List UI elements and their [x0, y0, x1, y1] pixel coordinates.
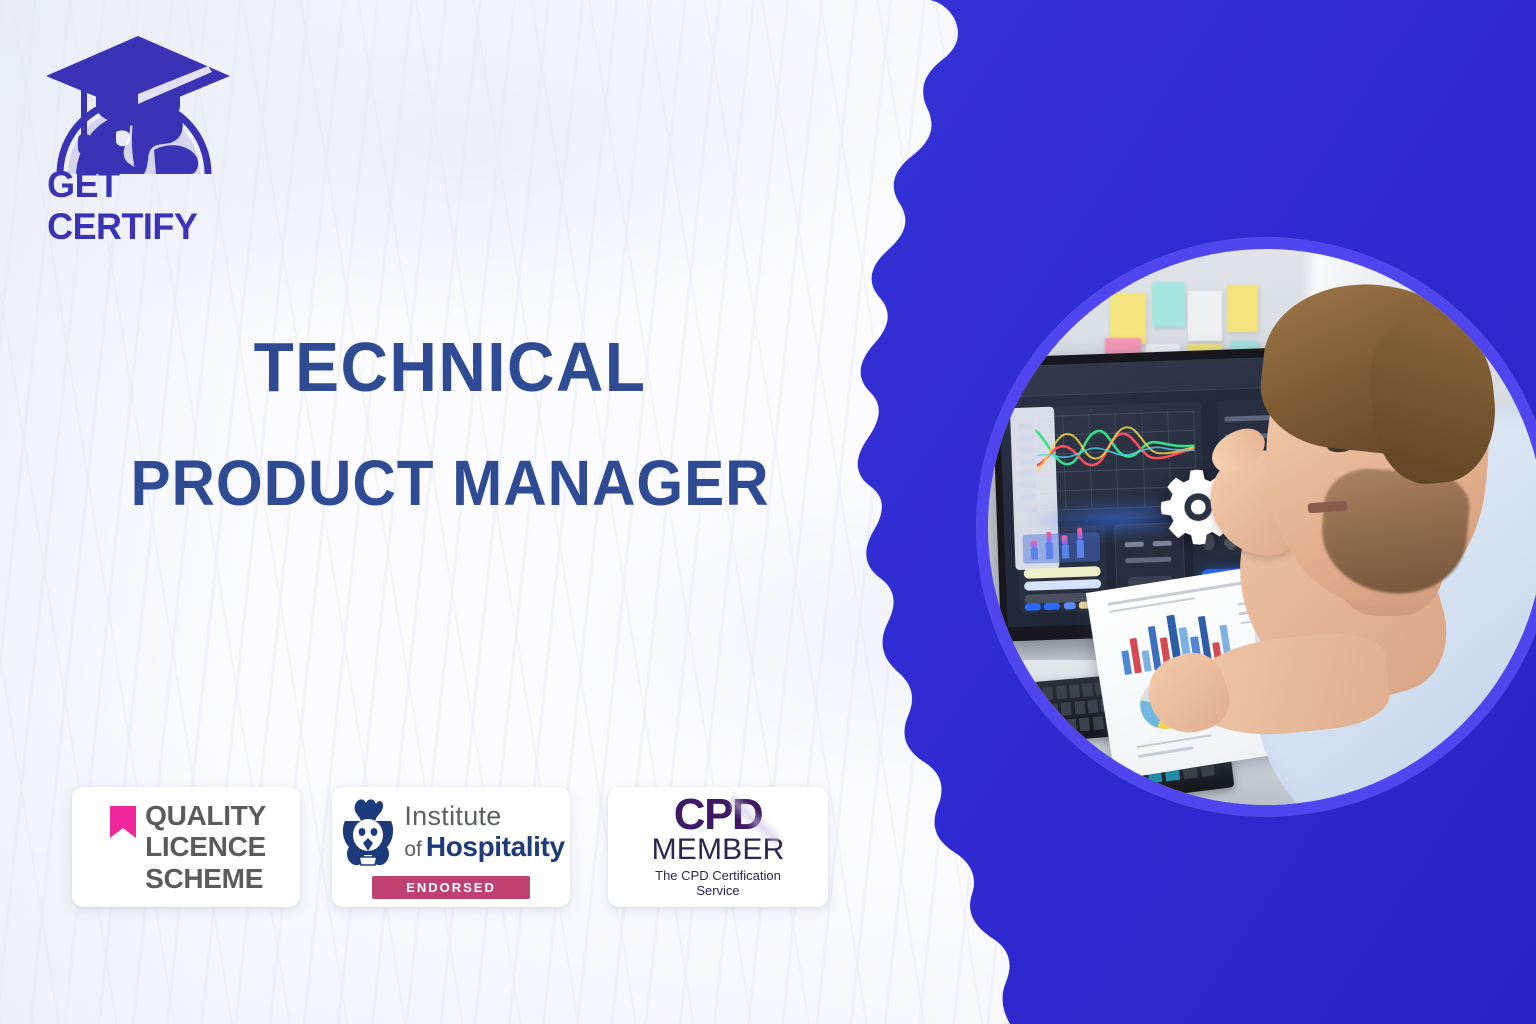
headline-line-1: TECHNICAL [27, 330, 873, 404]
ioh-institute-text: Institute [404, 803, 564, 830]
sticky-note [1188, 291, 1221, 341]
qls-line-3: SCHEME [145, 863, 266, 895]
badge-institute-of-hospitality[interactable]: Institute of Hospitality ENDORSED [332, 787, 570, 907]
ioh-endorsed-banner: ENDORSED [372, 876, 530, 899]
qls-line-1: QUALITY [145, 800, 266, 832]
course-banner: GET CERTIFY TECHNICAL PRODUCT MANAGER QU… [0, 0, 1536, 1024]
crest-icon [337, 795, 399, 869]
cpd-caption-line-2: Service [655, 883, 781, 898]
sticky-note [1152, 282, 1185, 326]
dashboard-input-field[interactable] [1024, 566, 1102, 578]
sticky-note [1227, 285, 1258, 332]
badge-cpd-member[interactable]: CPD MEMBER The CPD Certification Service [608, 787, 828, 907]
hero-photo [988, 249, 1536, 805]
ioh-hospitality-text: Hospitality [426, 833, 565, 861]
headline-line-2: PRODUCT MANAGER [27, 450, 873, 518]
badge-quality-licence-scheme[interactable]: QUALITY LICENCE SCHEME [72, 787, 300, 907]
ioh-of-text: of [404, 839, 422, 860]
bookmark-icon [110, 806, 136, 838]
sticky-note [1110, 293, 1146, 343]
accreditation-badges: QUALITY LICENCE SCHEME [72, 787, 832, 907]
mini-bar-chart [1023, 532, 1101, 564]
dashboard-input-field[interactable] [1024, 579, 1102, 591]
cpd-subtitle: MEMBER [652, 835, 785, 865]
chart-y-axis-labels [1019, 423, 1037, 508]
brand-logo[interactable]: GET CERTIFY [38, 22, 253, 212]
page-title: TECHNICAL PRODUCT MANAGER [0, 330, 900, 518]
qls-line-2: LICENCE [145, 831, 266, 863]
cpd-caption-line-1: The CPD Certification [655, 868, 781, 883]
cpd-title: CPD [674, 795, 762, 835]
brand-logo-text: GET CERTIFY [47, 164, 251, 248]
